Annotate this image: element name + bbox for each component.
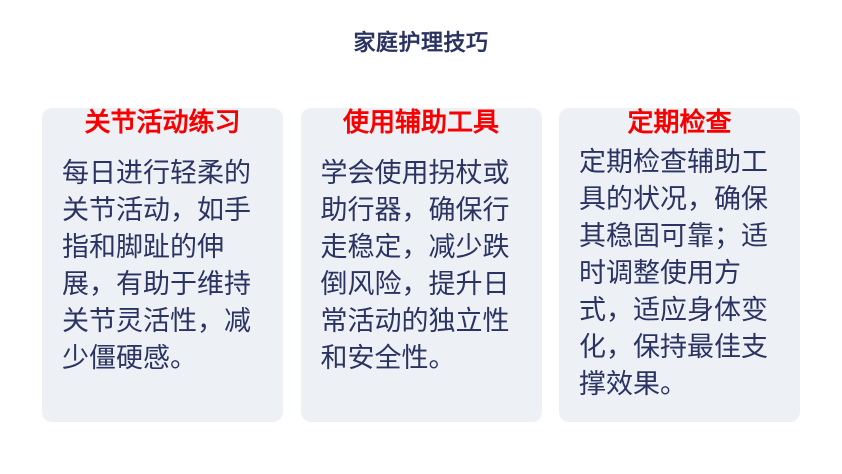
card-body-assistive-tools: 学会使用拐杖或助行器，确保行走稳定，减少跌倒风险，提升日常活动的独立性和安全性。	[321, 155, 528, 377]
page-title: 家庭护理技巧	[0, 30, 842, 58]
card-body-regular-inspection: 定期检查辅助工具的状况，确保其稳固可靠；适时调整使用方式，适应身体变化，保持最佳…	[579, 144, 786, 403]
card-heading-regular-inspection: 定期检查	[559, 106, 800, 140]
card-assistive-tools: 使用辅助工具 学会使用拐杖或助行器，确保行走稳定，减少跌倒风险，提升日常活动的独…	[301, 108, 542, 422]
card-regular-inspection: 定期检查 定期检查辅助工具的状况，确保其稳固可靠；适时调整使用方式，适应身体变化…	[559, 108, 800, 422]
card-heading-joint-exercise: 关节活动练习	[42, 106, 283, 140]
card-heading-assistive-tools: 使用辅助工具	[301, 106, 542, 140]
card-body-joint-exercise: 每日进行轻柔的关节活动，如手指和脚趾的伸展，有助于维持关节灵活性，减少僵硬感。	[62, 155, 269, 377]
infographic-container: 家庭护理技巧 关节活动练习 每日进行轻柔的关节活动，如手指和脚趾的伸展，有助于维…	[0, 0, 842, 474]
card-joint-exercise: 关节活动练习 每日进行轻柔的关节活动，如手指和脚趾的伸展，有助于维持关节灵活性，…	[42, 108, 283, 422]
cards-row: 关节活动练习 每日进行轻柔的关节活动，如手指和脚趾的伸展，有助于维持关节灵活性，…	[42, 108, 800, 422]
